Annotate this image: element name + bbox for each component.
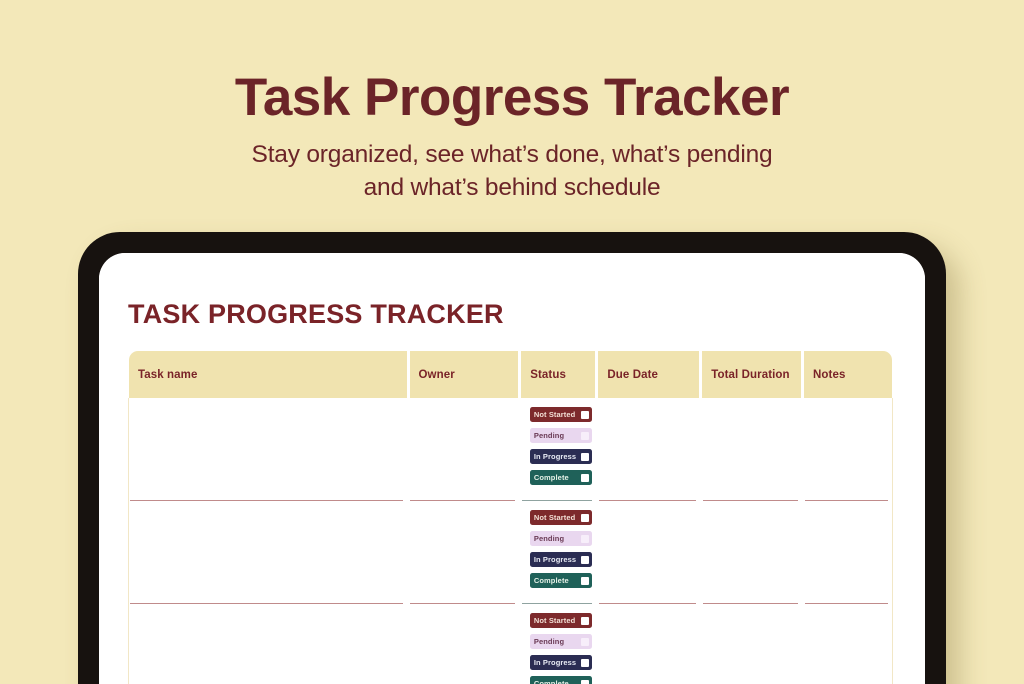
page-root: Task Progress Tracker Stay organized, se… [0,0,1024,684]
status-badge-label: Not Started [534,616,576,625]
status-badge-not-started[interactable]: Not Started [530,510,592,525]
table-cell-notes[interactable] [804,604,892,684]
status-badge-label: Complete [534,473,569,482]
column-header-total-duration[interactable]: Total Duration [702,351,801,398]
page-title: Task Progress Tracker [0,68,1024,128]
column-header-status[interactable]: Status [521,351,595,398]
status-badge-label: Complete [534,576,569,585]
status-badge-in-progress[interactable]: In Progress [530,449,592,464]
status-checkbox-icon[interactable] [581,411,589,419]
status-checkbox-icon[interactable] [581,432,589,440]
table-row: Not StartedPendingIn ProgressComplete [129,604,892,684]
table-cell-owner[interactable] [409,398,518,501]
table-cell-notes[interactable] [804,398,892,501]
status-checkbox-icon[interactable] [581,514,589,522]
table-cell-notes[interactable] [804,501,892,604]
status-badge-label: Complete [534,679,569,684]
status-badge-not-started[interactable]: Not Started [530,613,592,628]
status-badge-label: In Progress [534,658,576,667]
table-cell-duration[interactable] [702,398,801,501]
status-checkbox-icon[interactable] [581,659,589,667]
column-header-notes[interactable]: Notes [804,351,892,398]
status-badge-pending[interactable]: Pending [530,634,592,649]
table-cell-task[interactable] [129,501,407,604]
status-checkbox-icon[interactable] [581,474,589,482]
status-checkbox-icon[interactable] [581,556,589,564]
status-badge-label: In Progress [534,452,576,461]
status-checkbox-icon[interactable] [581,453,589,461]
tablet-screen: TASK PROGRESS TRACKER Task name Owner St… [99,253,925,684]
status-option-group: Not StartedPendingIn ProgressComplete [521,407,595,485]
poster-subtitle: Stay organized, see what’s done, what’s … [0,138,1024,204]
table-cell-duration[interactable] [702,501,801,604]
status-badge-label: Pending [534,637,564,646]
status-checkbox-icon[interactable] [581,680,589,684]
table-row: Not StartedPendingIn ProgressComplete [129,398,892,501]
status-badge-label: In Progress [534,555,576,564]
table-cell-task[interactable] [129,398,407,501]
status-badge-pending[interactable]: Pending [530,531,592,546]
status-checkbox-icon[interactable] [581,577,589,585]
table-cell-owner[interactable] [409,604,518,684]
status-badge-complete[interactable]: Complete [530,676,592,684]
status-badge-label: Not Started [534,410,576,419]
status-checkbox-icon[interactable] [581,638,589,646]
poster-header: Task Progress Tracker Stay organized, se… [0,68,1024,204]
tracker-sheet: TASK PROGRESS TRACKER Task name Owner St… [99,253,925,684]
task-tracker-table: Task name Owner Status Due Date Total Du… [129,351,892,684]
status-badge-pending[interactable]: Pending [530,428,592,443]
status-badge-complete[interactable]: Complete [530,573,592,588]
status-checkbox-icon[interactable] [581,535,589,543]
status-checkbox-icon[interactable] [581,617,589,625]
status-option-group: Not StartedPendingIn ProgressComplete [521,510,595,588]
status-badge-label: Pending [534,431,564,440]
table-cell-task[interactable] [129,604,407,684]
column-header-task-name[interactable]: Task name [129,351,407,398]
status-badge-in-progress[interactable]: In Progress [530,552,592,567]
table-cell-status[interactable]: Not StartedPendingIn ProgressComplete [521,501,595,604]
table-cell-status[interactable]: Not StartedPendingIn ProgressComplete [521,604,595,684]
status-badge-complete[interactable]: Complete [530,470,592,485]
table-cell-duration[interactable] [702,604,801,684]
table-header-row: Task name Owner Status Due Date Total Du… [129,351,892,398]
status-badge-label: Pending [534,534,564,543]
table-cell-due[interactable] [598,501,699,604]
sheet-title: TASK PROGRESS TRACKER [128,299,504,329]
table-cell-due[interactable] [598,398,699,501]
tablet-device-frame: TASK PROGRESS TRACKER Task name Owner St… [78,232,946,684]
table-row: Not StartedPendingIn ProgressComplete [129,501,892,604]
column-header-due-date[interactable]: Due Date [598,351,699,398]
poster-subtitle-line-1: Stay organized, see what’s done, what’s … [252,141,773,168]
status-badge-in-progress[interactable]: In Progress [530,655,592,670]
status-option-group: Not StartedPendingIn ProgressComplete [521,613,595,684]
poster-subtitle-line-2: and what’s behind schedule [364,174,661,201]
table-cell-due[interactable] [598,604,699,684]
column-header-owner[interactable]: Owner [410,351,519,398]
status-badge-not-started[interactable]: Not Started [530,407,592,422]
status-badge-label: Not Started [534,513,576,522]
table-cell-status[interactable]: Not StartedPendingIn ProgressComplete [521,398,595,501]
table-body: Not StartedPendingIn ProgressCompleteNot… [128,398,893,684]
table-cell-owner[interactable] [409,501,518,604]
